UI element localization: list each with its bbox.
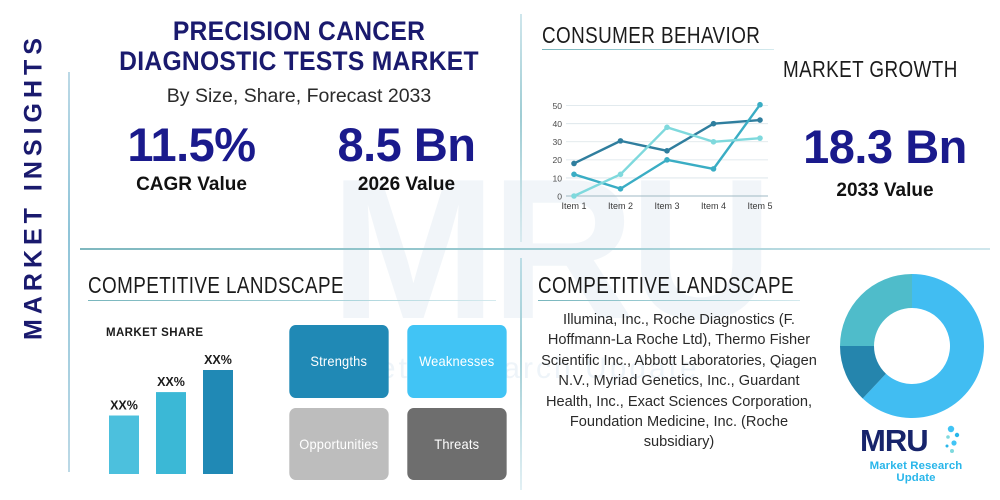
- swot-opportunities-label: Opportunities: [299, 436, 378, 452]
- consumer-behavior-heading: CONSUMER BEHAVIOR: [542, 22, 760, 49]
- vertical-divider-bottom: [520, 258, 522, 490]
- consumer-behavior-line-chart: 01020304050Item 1Item 2Item 3Item 4Item …: [540, 96, 775, 218]
- svg-text:Item 1: Item 1: [561, 201, 586, 211]
- stat-cagr-label: CAGR Value: [84, 174, 299, 196]
- svg-text:XX%: XX%: [204, 353, 232, 367]
- swot-weaknesses[interactable]: Weaknesses: [407, 325, 506, 398]
- competitive-landscape-right-underline: [538, 300, 800, 301]
- market-growth-value: 18.3 Bn: [790, 120, 980, 174]
- sidebar-divider: [68, 72, 70, 472]
- svg-text:XX%: XX%: [157, 375, 185, 389]
- sidebar-rail: MARKET INSIGHTS: [0, 0, 76, 500]
- logo-mark: MRU: [860, 424, 928, 458]
- swot-threats-label: Threats: [434, 436, 479, 452]
- stat-cagr: 11.5% CAGR Value: [84, 118, 299, 196]
- svg-text:40: 40: [552, 119, 562, 129]
- page-subtitle: By Size, Share, Forecast 2033: [84, 85, 514, 108]
- market-growth-heading: MARKET GROWTH: [783, 56, 958, 83]
- competitive-landscape-left-underline: [88, 300, 496, 301]
- svg-text:50: 50: [552, 101, 562, 111]
- company-list: Illumina, Inc., Roche Diagnostics (F. Ho…: [536, 310, 822, 453]
- svg-text:10: 10: [552, 173, 562, 183]
- swot-weaknesses-label: Weaknesses: [419, 353, 494, 369]
- swot-opportunities[interactable]: Opportunities: [289, 408, 388, 481]
- consumer-behavior-underline: [542, 49, 774, 50]
- svg-text:0: 0: [557, 191, 562, 201]
- swot-strengths-label: Strengths: [310, 353, 367, 369]
- svg-text:Item 4: Item 4: [701, 201, 726, 211]
- svg-text:20: 20: [552, 155, 562, 165]
- competitive-landscape-right-heading: COMPETITIVE LANDSCAPE: [538, 272, 794, 299]
- page-title: PRECISION CANCER DIAGNOSTIC TESTS MARKET: [99, 16, 499, 76]
- stats-row: 11.5% CAGR Value 8.5 Bn 2026 Value: [84, 118, 514, 196]
- market-share-bar-chart: XX%XX%XX%: [95, 322, 260, 480]
- swot-threats[interactable]: Threats: [407, 408, 506, 481]
- stat-2026-value: 8.5 Bn: [299, 118, 514, 172]
- swot-strengths[interactable]: Strengths: [289, 325, 388, 398]
- swot-grid: Strengths Weaknesses Opportunities Threa…: [285, 325, 510, 480]
- svg-text:Item 5: Item 5: [747, 201, 772, 211]
- bubbles-icon: [938, 424, 964, 458]
- stat-cagr-value: 11.5%: [84, 118, 299, 172]
- market-share-donut-chart: [838, 272, 986, 420]
- svg-text:XX%: XX%: [110, 399, 138, 413]
- logo: MRU Market Research Update: [852, 424, 980, 480]
- sidebar-label: MARKET INSIGHTS: [20, 7, 49, 367]
- stat-2026: 8.5 Bn 2026 Value: [299, 118, 514, 196]
- svg-text:Item 3: Item 3: [654, 201, 679, 211]
- horizontal-divider: [80, 248, 990, 250]
- svg-text:30: 30: [552, 137, 562, 147]
- market-growth-label: 2033 Value: [790, 180, 980, 202]
- competitive-landscape-left-heading: COMPETITIVE LANDSCAPE: [88, 272, 344, 299]
- infographic-page: MRU Market Research Update MARKET INSIGH…: [0, 0, 1000, 500]
- stat-2026-label: 2026 Value: [299, 174, 514, 196]
- vertical-divider-top: [520, 14, 522, 242]
- svg-text:Item 2: Item 2: [608, 201, 633, 211]
- logo-subtitle: Market Research Update: [852, 460, 980, 484]
